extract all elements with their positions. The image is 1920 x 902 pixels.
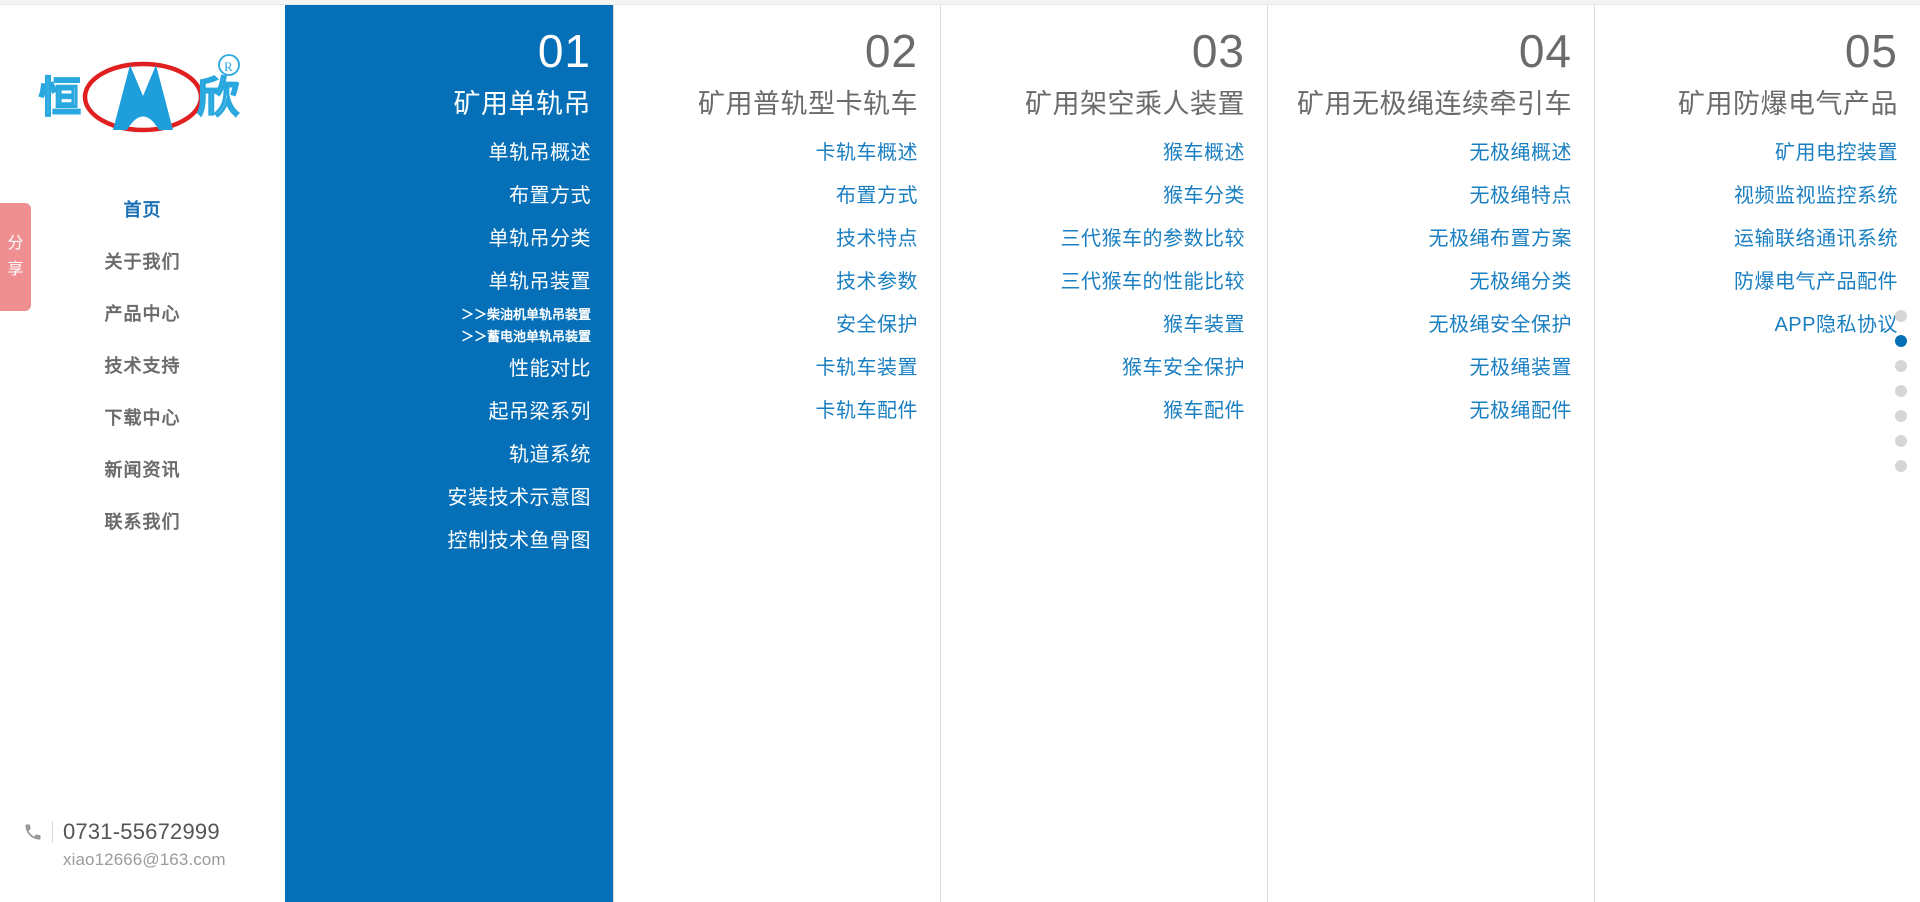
pagination-dot[interactable] (1895, 310, 1907, 322)
sidebar: 恒 欣 R 分 享 首页 关于我 (0, 5, 285, 902)
page-root: 恒 欣 R 分 享 首页 关于我 (0, 0, 1920, 902)
column-link[interactable]: 猴车安全保护 (963, 347, 1245, 390)
main-navigation: 首页 关于我们 产品中心 技术支持 下载中心 新闻资讯 联系我们 (0, 183, 285, 547)
sidebar-item-label: 下载中心 (105, 404, 181, 430)
pagination-dot[interactable] (1895, 435, 1907, 447)
column-number: 02 (636, 23, 918, 79)
column-link[interactable]: 技术参数 (636, 261, 918, 304)
registered-letter: R (224, 59, 233, 74)
pagination-dot-active[interactable] (1895, 335, 1907, 347)
contact-phone-row[interactable]: 0731-55672999 (18, 817, 285, 847)
column-link[interactable]: 单轨吊分类 (307, 218, 591, 261)
column-link[interactable]: 无极绳布置方案 (1290, 218, 1572, 261)
column-link[interactable]: 技术特点 (636, 218, 918, 261)
sidebar-item-home[interactable]: 首页 (0, 183, 285, 235)
phone-icon (18, 817, 48, 847)
column-title: 矿用普轨型卡轨车 (636, 85, 918, 123)
product-column-02: 02 矿用普轨型卡轨车 卡轨车概述 布置方式 技术特点 技术参数 安全保护 卡轨… (613, 5, 940, 902)
column-link[interactable]: 安全保护 (636, 304, 918, 347)
column-link[interactable]: 矿用电控装置 (1617, 132, 1898, 175)
column-links: 矿用电控装置 视频监视监控系统 运输联络通讯系统 防爆电气产品配件 APP隐私协… (1617, 132, 1898, 347)
column-link[interactable]: 猴车装置 (963, 304, 1245, 347)
product-column-01: 01 矿用单轨吊 单轨吊概述 布置方式 单轨吊分类 单轨吊装置 ＞＞柴油机单轨吊… (285, 5, 613, 902)
divider-line (52, 821, 53, 843)
column-number: 03 (963, 23, 1245, 79)
pagination-dot[interactable] (1895, 460, 1907, 472)
column-sublink[interactable]: ＞＞蓄电池单轨吊装置 (307, 326, 591, 348)
column-links: 猴车概述 猴车分类 三代猴车的参数比较 三代猴车的性能比较 猴车装置 猴车安全保… (963, 132, 1245, 433)
logo-graphic: 恒 欣 R (33, 50, 253, 134)
sidebar-item-about[interactable]: 关于我们 (0, 235, 285, 287)
column-number: 01 (307, 23, 591, 79)
pagination-dot[interactable] (1895, 385, 1907, 397)
column-title: 矿用单轨吊 (307, 85, 591, 123)
pagination-dot[interactable] (1895, 410, 1907, 422)
column-link[interactable]: 无极绳装置 (1290, 347, 1572, 390)
column-link[interactable]: 单轨吊装置 (307, 261, 591, 304)
column-link[interactable]: APP隐私协议 (1617, 304, 1898, 347)
sidebar-item-label: 新闻资讯 (105, 456, 181, 482)
sidebar-item-news[interactable]: 新闻资讯 (0, 443, 285, 495)
sidebar-item-support[interactable]: 技术支持 (0, 339, 285, 391)
sidebar-item-contact[interactable]: 联系我们 (0, 495, 285, 547)
column-link[interactable]: 猴车分类 (963, 175, 1245, 218)
logo-left-char: 恒 (39, 74, 81, 121)
column-link[interactable]: 猴车配件 (963, 390, 1245, 433)
column-link[interactable]: 卡轨车配件 (636, 390, 918, 433)
column-link[interactable]: 卡轨车概述 (636, 132, 918, 175)
column-number: 04 (1290, 23, 1572, 79)
column-link[interactable]: 轨道系统 (307, 434, 591, 477)
column-link[interactable]: 猴车概述 (963, 132, 1245, 175)
sidebar-item-label: 技术支持 (105, 352, 181, 378)
email-address[interactable]: xiao12666@163.com (18, 850, 285, 870)
product-column-03: 03 矿用架空乘人装置 猴车概述 猴车分类 三代猴车的参数比较 三代猴车的性能比… (940, 5, 1267, 902)
column-link[interactable]: 布置方式 (307, 175, 591, 218)
column-title: 矿用无极绳连续牵引车 (1290, 85, 1572, 123)
product-column-05: 05 矿用防爆电气产品 矿用电控装置 视频监视监控系统 运输联络通讯系统 防爆电… (1594, 5, 1920, 902)
column-link[interactable]: 防爆电气产品配件 (1617, 261, 1898, 304)
column-title: 矿用架空乘人装置 (963, 85, 1245, 123)
product-columns: 01 矿用单轨吊 单轨吊概述 布置方式 单轨吊分类 单轨吊装置 ＞＞柴油机单轨吊… (285, 5, 1920, 902)
sidebar-item-products[interactable]: 产品中心 (0, 287, 285, 339)
column-link[interactable]: 控制技术鱼骨图 (307, 520, 591, 563)
pagination-dots (1895, 310, 1907, 472)
column-number: 05 (1617, 23, 1898, 79)
column-link[interactable]: 无极绳特点 (1290, 175, 1572, 218)
sidebar-item-label: 关于我们 (105, 248, 181, 274)
column-link[interactable]: 布置方式 (636, 175, 918, 218)
column-link[interactable]: 性能对比 (307, 348, 591, 391)
sidebar-item-label: 联系我们 (105, 508, 181, 534)
column-link[interactable]: 单轨吊概述 (307, 132, 591, 175)
column-link[interactable]: 三代猴车的性能比较 (963, 261, 1245, 304)
column-link[interactable]: 起吊梁系列 (307, 391, 591, 434)
logo-mountain-mark (113, 65, 173, 130)
column-link[interactable]: 无极绳配件 (1290, 390, 1572, 433)
column-link[interactable]: 无极绳概述 (1290, 132, 1572, 175)
product-column-04: 04 矿用无极绳连续牵引车 无极绳概述 无极绳特点 无极绳布置方案 无极绳分类 … (1267, 5, 1594, 902)
column-link[interactable]: 安装技术示意图 (307, 477, 591, 520)
logo-right-char: 欣 (197, 74, 239, 121)
column-link[interactable]: 无极绳安全保护 (1290, 304, 1572, 347)
column-links: 卡轨车概述 布置方式 技术特点 技术参数 安全保护 卡轨车装置 卡轨车配件 (636, 132, 918, 433)
column-links: 单轨吊概述 布置方式 单轨吊分类 单轨吊装置 ＞＞柴油机单轨吊装置 ＞＞蓄电池单… (307, 132, 591, 563)
sidebar-item-label: 产品中心 (105, 300, 181, 326)
column-title: 矿用防爆电气产品 (1617, 85, 1898, 123)
sidebar-item-downloads[interactable]: 下载中心 (0, 391, 285, 443)
column-link[interactable]: 视频监视监控系统 (1617, 175, 1898, 218)
column-link[interactable]: 运输联络通讯系统 (1617, 218, 1898, 261)
column-link[interactable]: 卡轨车装置 (636, 347, 918, 390)
sidebar-item-label: 首页 (124, 196, 162, 222)
column-links: 无极绳概述 无极绳特点 无极绳布置方案 无极绳分类 无极绳安全保护 无极绳装置 … (1290, 132, 1572, 433)
logo-svg: 恒 欣 R (33, 50, 253, 134)
phone-number: 0731-55672999 (63, 819, 220, 845)
company-logo[interactable]: 恒 欣 R (0, 47, 285, 137)
contact-block: 0731-55672999 xiao12666@163.com (0, 817, 285, 870)
pagination-dot[interactable] (1895, 360, 1907, 372)
column-link[interactable]: 三代猴车的参数比较 (963, 218, 1245, 261)
column-link[interactable]: 无极绳分类 (1290, 261, 1572, 304)
column-sublink[interactable]: ＞＞柴油机单轨吊装置 (307, 304, 591, 326)
